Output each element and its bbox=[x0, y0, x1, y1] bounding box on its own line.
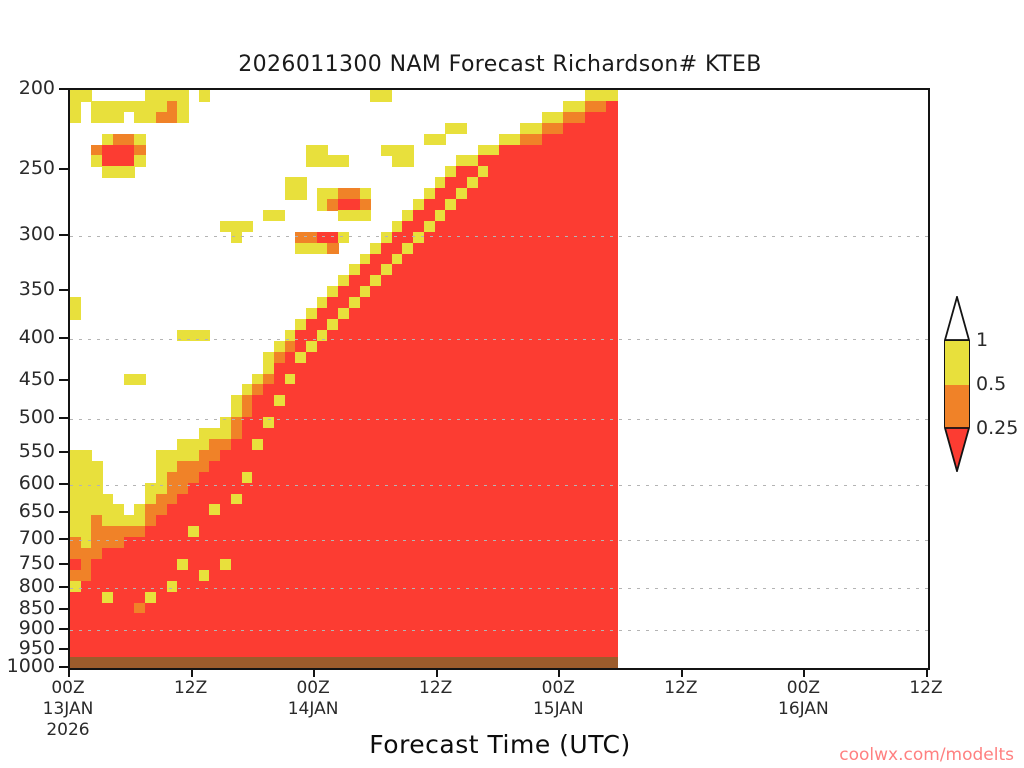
y-axis-label: 450 bbox=[19, 368, 55, 390]
gridline-layer bbox=[70, 90, 928, 668]
x-axis-tick bbox=[68, 668, 70, 677]
colorbar: 10.50.25 bbox=[944, 296, 970, 472]
page-title: 2026011300 NAM Forecast Richardson# KTEB bbox=[0, 52, 1000, 77]
y-axis-label: 1000 bbox=[7, 655, 55, 677]
gridline-horizontal bbox=[70, 339, 928, 340]
colorbar-tick-label: 0.5 bbox=[976, 373, 1006, 395]
colorbar-tick-label: 1 bbox=[976, 329, 988, 351]
x-axis-label: 12Z bbox=[881, 678, 971, 699]
x-axis-label: 00Z14JAN bbox=[268, 678, 358, 720]
colorbar-tick-label: 0.25 bbox=[976, 417, 1018, 439]
y-axis-tick bbox=[59, 289, 68, 291]
y-axis-label: 200 bbox=[19, 77, 55, 99]
x-axis-tick bbox=[436, 668, 438, 677]
y-axis-label: 850 bbox=[19, 597, 55, 619]
y-axis-tick bbox=[59, 337, 68, 339]
y-axis-label: 250 bbox=[19, 157, 55, 179]
x-axis-tick bbox=[558, 668, 560, 677]
y-axis-label: 600 bbox=[19, 472, 55, 494]
gridline-horizontal bbox=[70, 588, 928, 589]
gridline-horizontal bbox=[70, 630, 928, 631]
x-axis-label: 12Z bbox=[636, 678, 726, 699]
y-axis-tick bbox=[59, 666, 68, 668]
y-axis-label: 800 bbox=[19, 575, 55, 597]
y-axis-tick bbox=[59, 563, 68, 565]
y-axis-tick bbox=[59, 628, 68, 630]
gridline-horizontal bbox=[70, 540, 928, 541]
x-axis-label: 12Z bbox=[146, 678, 236, 699]
y-axis-tick bbox=[59, 379, 68, 381]
y-axis-tick bbox=[59, 586, 68, 588]
x-axis-tick bbox=[191, 668, 193, 677]
y-axis-tick bbox=[59, 648, 68, 650]
y-axis-tick bbox=[59, 483, 68, 485]
colorbar-body bbox=[944, 340, 970, 428]
x-axis-label: 00Z16JAN bbox=[758, 678, 848, 720]
colorbar-segment bbox=[945, 385, 969, 429]
y-axis-label: 700 bbox=[19, 527, 55, 549]
y-axis-tick bbox=[59, 538, 68, 540]
x-axis-tick bbox=[681, 668, 683, 677]
y-axis-label: 650 bbox=[19, 500, 55, 522]
y-axis-label: 400 bbox=[19, 326, 55, 348]
gridline-horizontal bbox=[70, 668, 928, 669]
colorbar-below-arrow-outline bbox=[944, 427, 970, 472]
gridline-horizontal bbox=[70, 485, 928, 486]
gridline-horizontal bbox=[70, 419, 928, 420]
y-axis-label: 750 bbox=[19, 552, 55, 574]
y-axis-tick bbox=[59, 234, 68, 236]
x-axis-tick bbox=[803, 668, 805, 677]
y-axis-tick bbox=[59, 451, 68, 453]
y-axis-tick bbox=[59, 417, 68, 419]
y-axis-label: 300 bbox=[19, 223, 55, 245]
chart-canvas: 2026011300 NAM Forecast Richardson# KTEB… bbox=[0, 0, 1024, 768]
x-axis-tick bbox=[313, 668, 315, 677]
watermark: coolwx.com/modelts bbox=[839, 745, 1014, 765]
y-axis-label: 350 bbox=[19, 278, 55, 300]
y-axis-tick bbox=[59, 168, 68, 170]
y-axis-label: 550 bbox=[19, 440, 55, 462]
gridline-horizontal bbox=[70, 236, 928, 237]
y-axis-tick bbox=[59, 511, 68, 513]
x-axis-label: 12Z bbox=[391, 678, 481, 699]
plot-area bbox=[68, 88, 930, 670]
x-axis-tick bbox=[926, 668, 928, 677]
colorbar-segment bbox=[945, 341, 969, 385]
y-axis-tick bbox=[59, 608, 68, 610]
y-axis-tick bbox=[59, 88, 68, 90]
y-axis-label: 500 bbox=[19, 406, 55, 428]
x-axis-label: 00Z15JAN bbox=[513, 678, 603, 720]
colorbar-above-arrow-outline bbox=[944, 296, 970, 341]
